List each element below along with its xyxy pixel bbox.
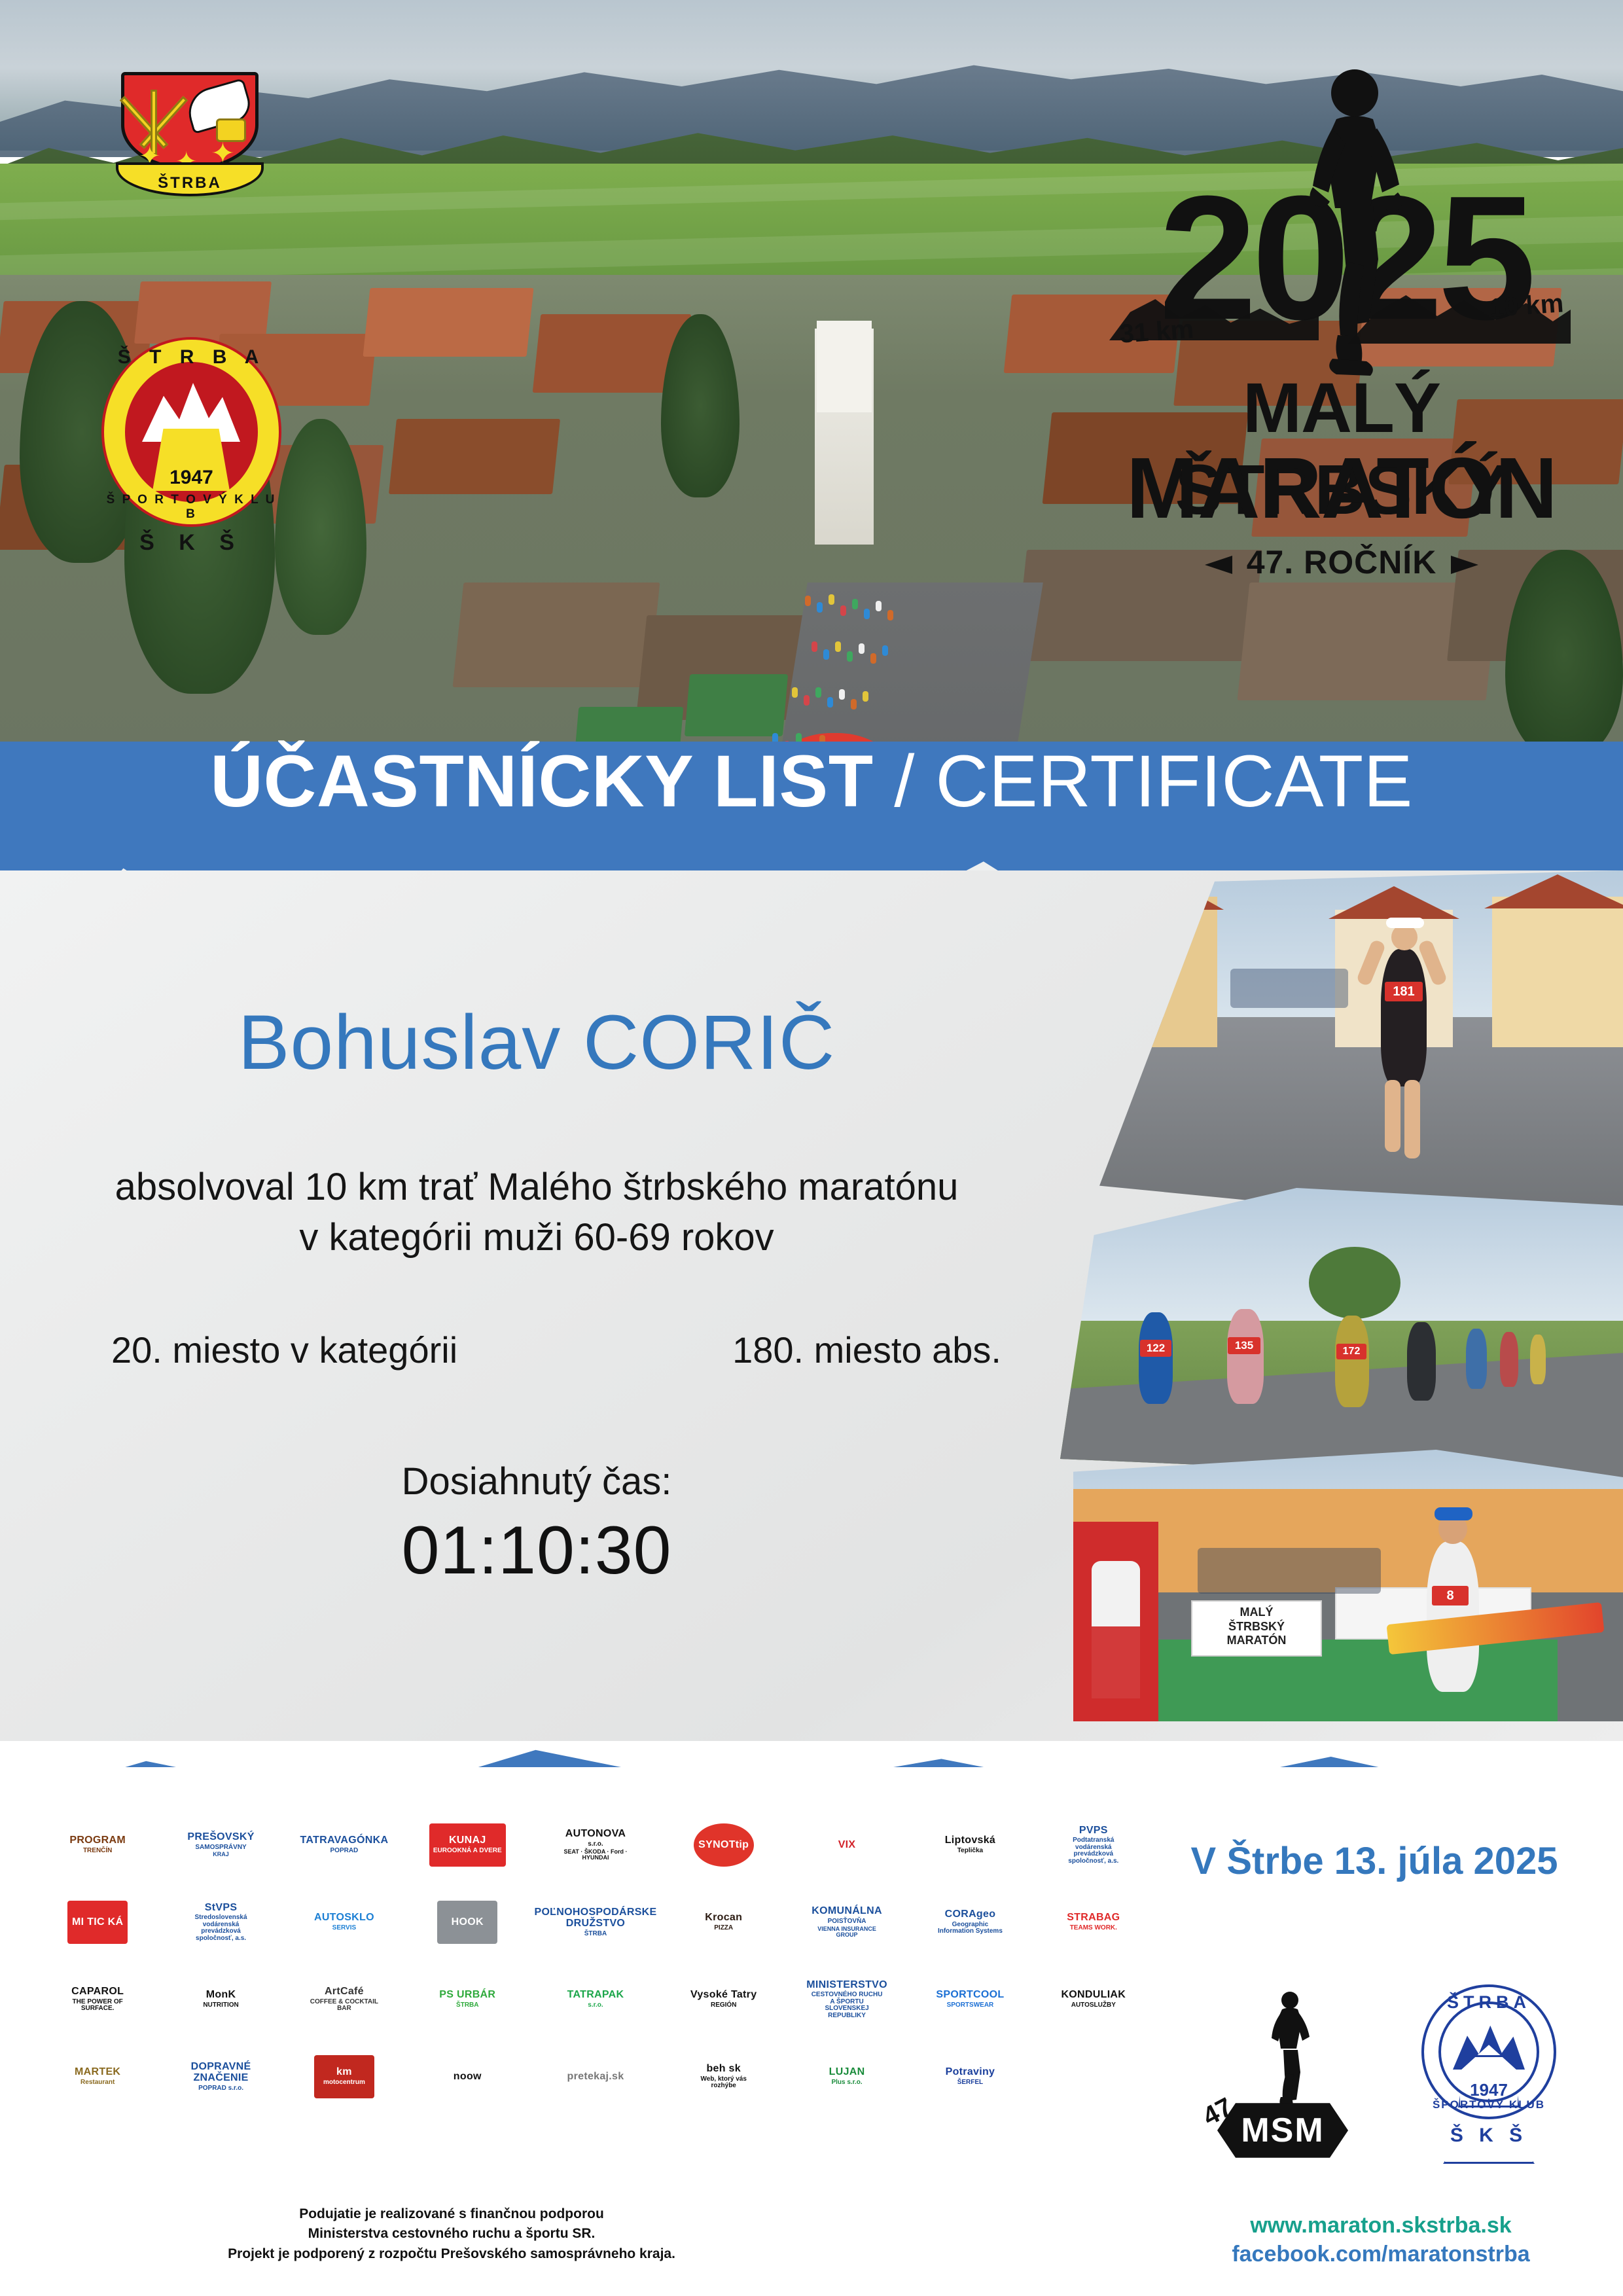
sponsor-mark: CORAgeoGeographic Information Systems	[930, 1901, 1010, 1944]
sponsor-name: pretekaj.sk	[567, 2072, 624, 2083]
crest-banner-label: ŠTRBA	[116, 162, 264, 196]
sponsor-logo-grid: PROGRAMTRENČÍNPREŠOVSKÝSAMOSPRÁVNYKRAJTA…	[36, 1806, 1155, 2199]
sponsor-name: PREŠOVSKÝ	[187, 1832, 254, 1843]
stamp-top-label: ŠTRBA	[1407, 1992, 1571, 2013]
sponsor-mark: TATRAPAKs.r.o.	[563, 1978, 628, 2021]
sponsor-logo-krocan-pizza: KrocanPIZZA	[662, 1884, 785, 1961]
photo1-house-3	[1492, 897, 1623, 1047]
sponsor-logo-lujan-plus: LUJANPlus s.r.o.	[785, 2038, 908, 2115]
sponsor-mark: AUTOSKLOSERVIS	[310, 1901, 378, 1944]
sponsor-name: Liptovská	[945, 1835, 995, 1846]
event-edition-row: 47. ROČNÍK	[1073, 543, 1610, 581]
msm-logo: 47. MSM	[1198, 1977, 1368, 2173]
sponsor-mark: KOMUNÁLNAPOISŤOVŇAVIENNA INSURANCE GROUP	[807, 1901, 887, 1944]
certificate-description: absolvoval 10 km trať Malého štrbského m…	[0, 1162, 1073, 1263]
sponsor-mark: AUTONOVAs.r.o.SEAT · ŠKODA · Ford · HYUN…	[556, 1823, 635, 1867]
description-line-1: absolvoval 10 km trať Malého štrbského m…	[0, 1162, 1073, 1212]
photo3-winner-cap	[1435, 1507, 1472, 1520]
sponsor-tagline-2: VIENNA INSURANCE GROUP	[811, 1926, 883, 1939]
sponsor-logo-potraviny-serfel: PotravinyŠERFEL	[908, 2038, 1031, 2115]
sponsor-mark: KrocanPIZZA	[694, 1901, 754, 1944]
funding-credit: Podujatie je realizované s finančnou pod…	[33, 2204, 870, 2264]
sponsor-logo-sportcool: SPORTCOOLSPORTSWEAR	[908, 1961, 1031, 2038]
club-label-top: Š T R B A	[101, 346, 281, 368]
sponsor-logo-autonova: AUTONOVAs.r.o.SEAT · ŠKODA · Ford · HYUN…	[529, 1806, 662, 1884]
facebook-link[interactable]: facebook.com/maratonstrba	[1152, 2240, 1610, 2269]
sponsor-logo-tatravagonka-poprad: TATRAVAGÓNKAPOPRAD	[283, 1806, 406, 1884]
photo-winner-finish: MALÝŠTRBSKÝMARATÓN 8	[1073, 1450, 1623, 1721]
arrow-left-icon	[1205, 556, 1232, 574]
sponsor-name: TATRAVAGÓNKA	[300, 1835, 388, 1846]
sponsor-logo-corageo: CORAgeoGeographic Information Systems	[908, 1884, 1031, 1961]
sponsor-name: Krocan	[705, 1912, 742, 1924]
photo3-spectators	[1198, 1548, 1381, 1594]
sponsor-logo-konduliak: KONDULIAKAUTOSLUŽBY	[1032, 1961, 1155, 2038]
sponsor-tagline: POPRAD s.r.o.	[198, 2085, 243, 2092]
sponsor-mark: SYNOTtip	[694, 1823, 754, 1867]
absolute-place: 180. miesto abs.	[732, 1329, 1001, 1371]
photo2-runner-4	[1407, 1322, 1436, 1401]
sponsor-tagline: THE POWER OF SURFACE.	[62, 1999, 134, 2013]
photo1-runner-body	[1381, 949, 1427, 1086]
sponsor-logo-komunalna-poistovna: KOMUNÁLNAPOISŤOVŇAVIENNA INSURANCE GROUP	[785, 1884, 908, 1961]
club-acronym: Š K Š	[101, 530, 281, 556]
sponsor-mark: Vysoké TatryREGIÓN	[687, 1978, 760, 2021]
sponsor-name: AUTONOVA	[565, 1829, 626, 1840]
sponsor-mark: noow	[437, 2055, 497, 2098]
sponsor-logo-liptovska-teplicka: LiptovskáTeplička	[908, 1806, 1031, 1884]
sponsor-tagline: Plus s.r.o.	[831, 2079, 862, 2087]
sponsor-mark: LiptovskáTeplička	[940, 1823, 1000, 1867]
sponsor-name: AUTOSKLO	[314, 1912, 374, 1924]
photo2-bib-1: 122	[1140, 1340, 1171, 1357]
sponsor-mark: STRABAGTEAMS WORK.	[1063, 1901, 1124, 1944]
sponsor-name: KONDULIAK	[1061, 1990, 1126, 2001]
sponsor-mark: PROGRAMTRENČÍN	[65, 1823, 130, 1867]
sponsor-tagline: SPORTSWEAR	[947, 2002, 994, 2009]
sponsor-mark: StVPSStredoslovenská vodárenská prevádzk…	[181, 1900, 261, 1945]
runner-silhouette-icon	[1289, 65, 1420, 393]
sponsor-logo-presovsky-kraj: PREŠOVSKÝSAMOSPRÁVNYKRAJ	[159, 1806, 282, 1884]
sponsor-logo-pretekaj-sk: pretekaj.sk	[529, 2038, 662, 2115]
photo3-bib: 8	[1432, 1586, 1469, 1605]
photo1-runner-head	[1391, 924, 1418, 950]
sponsor-tagline: ŠTRBA	[456, 2002, 478, 2009]
sponsor-logo-miticka: MI TIC KÁ	[36, 1884, 159, 1961]
sponsor-name: PVPS	[1079, 1825, 1108, 1837]
sponsor-name: STRABAG	[1067, 1912, 1120, 1924]
placements-row: 20. miesto v kategórii 180. miesto abs.	[0, 1329, 1113, 1371]
sponsor-mark: pretekaj.sk	[563, 2055, 628, 2098]
sponsor-mark: TATRAVAGÓNKAPOPRAD	[296, 1823, 392, 1867]
sponsor-mark: PREŠOVSKÝSAMOSPRÁVNYKRAJ	[183, 1823, 258, 1867]
photo2-runner-3	[1335, 1316, 1369, 1407]
sponsor-tagline: SERVIS	[332, 1925, 357, 1932]
sponsor-mark: PS URBÁRŠTRBA	[435, 1978, 499, 2021]
credit-line-2: Ministerstva cestovného ruchu a športu S…	[33, 2224, 870, 2244]
sponsor-logo-hook: HOOK	[406, 1884, 529, 1961]
page-title: ÚČASTNÍCKY LIST / CERTIFICATE	[0, 745, 1623, 818]
sponsor-logo-autosklo-servis: AUTOSKLOSERVIS	[283, 1884, 406, 1961]
sponsor-tagline: SAMOSPRÁVNY	[195, 1844, 246, 1852]
sponsor-mark: kmmotocentrum	[314, 2055, 374, 2098]
stamp-bottom-label: Š K Š	[1407, 2125, 1571, 2147]
club-stamp: ŠTRBA 1947 ŠPORTOVÝ KLUB Š K Š	[1407, 1970, 1571, 2160]
sponsor-tagline: AUTOSLUŽBY	[1071, 2002, 1116, 2009]
sponsor-tagline: TRENČÍN	[83, 1848, 112, 1855]
sponsor-mark: MINISTERSTVOCESTOVNÉHO RUCHU A ŠPORTU SL…	[802, 1977, 891, 2022]
sponsor-tagline: motocentrum	[323, 2079, 365, 2087]
sponsor-logo-ministerstvo: MINISTERSTVOCESTOVNÉHO RUCHU A ŠPORTU SL…	[785, 1961, 908, 2038]
sponsor-mark: DOPRAVNÉ ZNAČENIEPOPRAD s.r.o.	[160, 2055, 281, 2098]
sponsor-logo-vix: VIX	[785, 1806, 908, 1884]
sponsor-name: Potraviny	[946, 2067, 995, 2078]
sponsor-logo-vysoke-tatry: Vysoké TatryREGIÓN	[662, 1961, 785, 2038]
sponsor-tagline: Geographic Information Systems	[934, 1922, 1006, 1935]
event-logo: 2025 31 km 10 km	[1073, 26, 1610, 615]
sports-club-logo: Š T R B A 1947 Š P O R T O V Ý K L U B	[101, 337, 281, 527]
sponsor-logo-caparol: CAPAROLTHE POWER OF SURFACE.	[36, 1961, 159, 2038]
sponsor-name: StVPS	[205, 1903, 238, 1914]
sponsor-tagline: CESTOVNÉHO RUCHU A ŠPORTU SLOVENSKEJ REP…	[811, 1992, 883, 2019]
sponsor-mark: MARTEKRestaurant	[67, 2055, 128, 2098]
sponsor-name: PROGRAM	[69, 1835, 126, 1846]
sponsor-logo-noow: noow	[406, 2038, 529, 2115]
sponsor-name: HOOK	[452, 1917, 484, 1928]
sponsor-tagline: Teplička	[957, 1848, 983, 1855]
sponsor-name: SYNOTtip	[698, 1840, 749, 1851]
sponsor-name: DOPRAVNÉ ZNAČENIE	[164, 2062, 277, 2084]
photo2-runner-1	[1139, 1312, 1173, 1404]
sponsor-name: km	[336, 2067, 352, 2078]
sponsor-name: CORAgeo	[945, 1909, 996, 1920]
photo1-leg-right	[1404, 1080, 1420, 1158]
description-line-2: v kategórii muži 60-69 rokov	[0, 1212, 1073, 1263]
sponsor-tagline: POPRAD	[330, 1848, 359, 1855]
sponsor-tagline: s.r.o.	[588, 1841, 603, 1848]
sponsor-mark: SPORTCOOLSPORTSWEAR	[932, 1978, 1008, 2021]
hero-photo-aerial-village: ŠTART	[0, 0, 1623, 753]
sponsor-mark: ArtCaféCOFFEE & COCKTAIL BAR	[304, 1978, 384, 2021]
credit-line-3: Projekt je podporený z rozpočtu Prešovsk…	[33, 2244, 870, 2264]
sponsor-mark: VIX	[817, 1823, 877, 1867]
photo2-bib-2: 135	[1228, 1337, 1260, 1354]
sponsor-name: KOMUNÁLNA	[811, 1906, 882, 1917]
photo3-folk-skirt	[1092, 1626, 1140, 1698]
photo-female-runner: 181	[1099, 870, 1623, 1237]
finish-time: 01:10:30	[0, 1512, 1073, 1590]
sponsor-tagline: PIZZA	[714, 1925, 733, 1932]
sponsor-name: noow	[454, 2072, 482, 2083]
sponsor-logo-artcafe: ArtCaféCOFFEE & COCKTAIL BAR	[283, 1961, 406, 2038]
sponsor-logo-martek: MARTEKRestaurant	[36, 2038, 159, 2115]
sponsor-logo-ps-urbar-strba: PS URBÁRŠTRBA	[406, 1961, 529, 2038]
sponsor-tagline-2: SEAT · ŠKODA · Ford · HYUNDAI	[560, 1849, 632, 1861]
sponsor-name: VIX	[838, 1840, 856, 1851]
sponsor-name: ArtCafé	[325, 1986, 364, 1998]
sponsor-tagline: NUTRITION	[203, 2002, 238, 2009]
sponsor-name: MonK	[206, 1990, 236, 2001]
photo2-bib-3: 172	[1336, 1344, 1366, 1359]
photo2-runner-5	[1466, 1329, 1487, 1389]
sponsor-mark: beh skWeb, ktorý vás rozhýbe	[684, 2055, 764, 2098]
sponsor-mark: CAPAROLTHE POWER OF SURFACE.	[58, 1978, 137, 2021]
sponsor-logo-pvps: PVPSPodtatranská vodárenská prevádzková …	[1032, 1806, 1155, 1884]
sponsor-tagline: ŠTRBA	[584, 1931, 607, 1938]
club-founded-year: 1947	[101, 467, 281, 489]
sponsor-tagline: REGIÓN	[711, 2002, 736, 2009]
participant-name: Bohuslav CORIČ	[0, 998, 1073, 1087]
sponsor-name: MINISTERSTVO	[806, 1980, 887, 1991]
sponsor-logo-synottip: SYNOTtip	[662, 1806, 785, 1884]
stamp-middle-label: ŠPORTOVÝ KLUB	[1407, 2098, 1571, 2111]
event-name-line2: MARATÓN	[1073, 439, 1610, 537]
sponsor-logo-pd-strba: POĽNOHOSPODÁRSKE DRUŽSTVOŠTRBA	[529, 1884, 662, 1961]
sponsor-tagline: Restaurant	[80, 2079, 115, 2087]
title-slovak: ÚČASTNÍCKY LIST	[210, 740, 873, 822]
stamp-year: 1947	[1407, 2080, 1571, 2100]
contact-links: www.maraton.skstrba.sk facebook.com/mara…	[1152, 2211, 1610, 2269]
sponsor-tagline: Podtatranská vodárenská prevádzková spol…	[1058, 1837, 1130, 1865]
photo1-roof-1	[1106, 877, 1224, 910]
sponsor-tagline: s.r.o.	[588, 2002, 603, 2009]
sponsor-logo-strabag: STRABAGTEAMS WORK.	[1032, 1884, 1155, 1961]
photo2-runner-7	[1530, 1335, 1546, 1384]
category-place: 20. miesto v kategórii	[111, 1329, 457, 1371]
sponsor-mark: PVPSPodtatranská vodárenská prevádzková …	[1054, 1823, 1133, 1868]
sponsor-tagline: TEAMS WORK.	[1070, 1925, 1117, 1932]
sponsor-mark: KONDULIAKAUTOSLUŽBY	[1057, 1978, 1130, 2021]
photo-runners-course: 122 135 172	[1060, 1188, 1623, 1482]
sponsor-tagline: COFFEE & COCKTAIL BAR	[308, 1999, 380, 2013]
sponsor-name: CAPAROL	[71, 1986, 124, 1998]
sponsor-name: KUNAJ	[449, 1835, 486, 1846]
sponsor-tagline: Web, ktorý vás rozhýbe	[688, 2076, 760, 2090]
photo1-leg-left	[1385, 1080, 1400, 1152]
crest-shield: ✦ ✦ ✦	[121, 72, 259, 170]
sponsor-mark: LUJANPlus s.r.o.	[817, 2055, 877, 2098]
strba-town-crest: ✦ ✦ ✦ ŠTRBA	[121, 72, 259, 196]
photo-collage: 181 122 135 172	[1060, 870, 1623, 1721]
sponsor-logo-program-trencin: PROGRAMTRENČÍN	[36, 1806, 159, 1884]
time-label: Dosiahnutý čas:	[0, 1460, 1073, 1503]
sponsor-name: TATRAPAK	[567, 1990, 624, 2001]
credit-line-1: Podujatie je realizované s finančnou pod…	[33, 2204, 870, 2224]
title-english: / CERTIFICATE	[894, 740, 1413, 822]
photo2-tree	[1309, 1247, 1400, 1319]
sponsor-logo-km-motocentrum: kmmotocentrum	[283, 2038, 406, 2115]
sponsor-name: beh sk	[706, 2064, 741, 2075]
sponsor-mark: KUNAJEUROOKNÁ A DVERE	[429, 1823, 506, 1867]
sponsor-mark: POĽNOHOSPODÁRSKE DRUŽSTVOŠTRBA	[530, 1901, 660, 1944]
distance-10km: 10 km	[1488, 289, 1564, 323]
photo1-bib: 181	[1385, 982, 1423, 1001]
photo1-runner-cap	[1386, 918, 1424, 928]
sponsor-name: MARTEK	[75, 2067, 120, 2078]
msm-runner-icon	[1260, 1990, 1319, 2108]
sponsor-tagline-2: KRAJ	[213, 1852, 229, 1857]
club-label-bottom: Š P O R T O V Ý K L U B	[101, 493, 281, 522]
sponsor-tagline: Stredoslovenská vodárenská prevádzková s…	[185, 1914, 257, 1942]
sponsor-mark: MonKNUTRITION	[191, 1978, 251, 2021]
sponsor-mark: MI TIC KÁ	[67, 1901, 128, 1944]
sponsor-tagline: ŠERFEL	[957, 2079, 983, 2087]
distance-31km: 31 km	[1118, 315, 1194, 350]
sponsor-logo-beh-sk: beh skWeb, ktorý vás rozhýbe	[662, 2038, 785, 2115]
sponsor-mark: PotravinyŠERFEL	[940, 2055, 1000, 2098]
certificate-page: ŠTART	[0, 0, 1623, 2296]
church-tower	[817, 321, 872, 412]
photo1-crowd	[1230, 969, 1348, 1008]
msm-acronym: MSM	[1217, 2094, 1348, 2166]
sponsor-mark: HOOK	[437, 1901, 497, 1944]
event-edition: 47. ROČNÍK	[1247, 544, 1437, 581]
sponsor-name: Vysoké Tatry	[690, 1990, 757, 2001]
sponsor-name: SPORTCOOL	[936, 1990, 1004, 2001]
photo1-house-1	[1113, 897, 1217, 1047]
sponsor-tagline: EUROOKNÁ A DVERE	[433, 1848, 502, 1855]
sponsor-logo-monk-nutrition: MonKNUTRITION	[159, 1961, 282, 2038]
sponsor-tagline: POISŤOVŇA	[828, 1918, 866, 1926]
photo2-runner-2	[1227, 1309, 1264, 1404]
sponsor-logo-stvps: StVPSStredoslovenská vodárenská prevádzk…	[159, 1884, 282, 1961]
sponsor-name: POĽNOHOSPODÁRSKE DRUŽSTVO	[534, 1907, 656, 1929]
photo2-runner-6	[1500, 1332, 1518, 1387]
sponsor-name: MI TIC KÁ	[72, 1917, 123, 1928]
sponsor-logo-kunaj: KUNAJEUROOKNÁ A DVERE	[406, 1806, 529, 1884]
sponsor-logo-tatrapak: TATRAPAKs.r.o.	[529, 1961, 662, 2038]
sponsor-name: LUJAN	[829, 2067, 865, 2078]
arrow-right-icon	[1451, 556, 1478, 574]
sponsor-logo-dopravne-znacenie: DOPRAVNÉ ZNAČENIEPOPRAD s.r.o.	[159, 2038, 282, 2115]
photo3-event-banner: MALÝŠTRBSKÝMARATÓN	[1191, 1600, 1322, 1657]
website-link[interactable]: www.maraton.skstrba.sk	[1152, 2211, 1610, 2240]
sponsor-name: PS URBÁR	[439, 1990, 495, 2001]
location-date: V Štrbe 13. júla 2025	[1152, 1839, 1597, 1883]
